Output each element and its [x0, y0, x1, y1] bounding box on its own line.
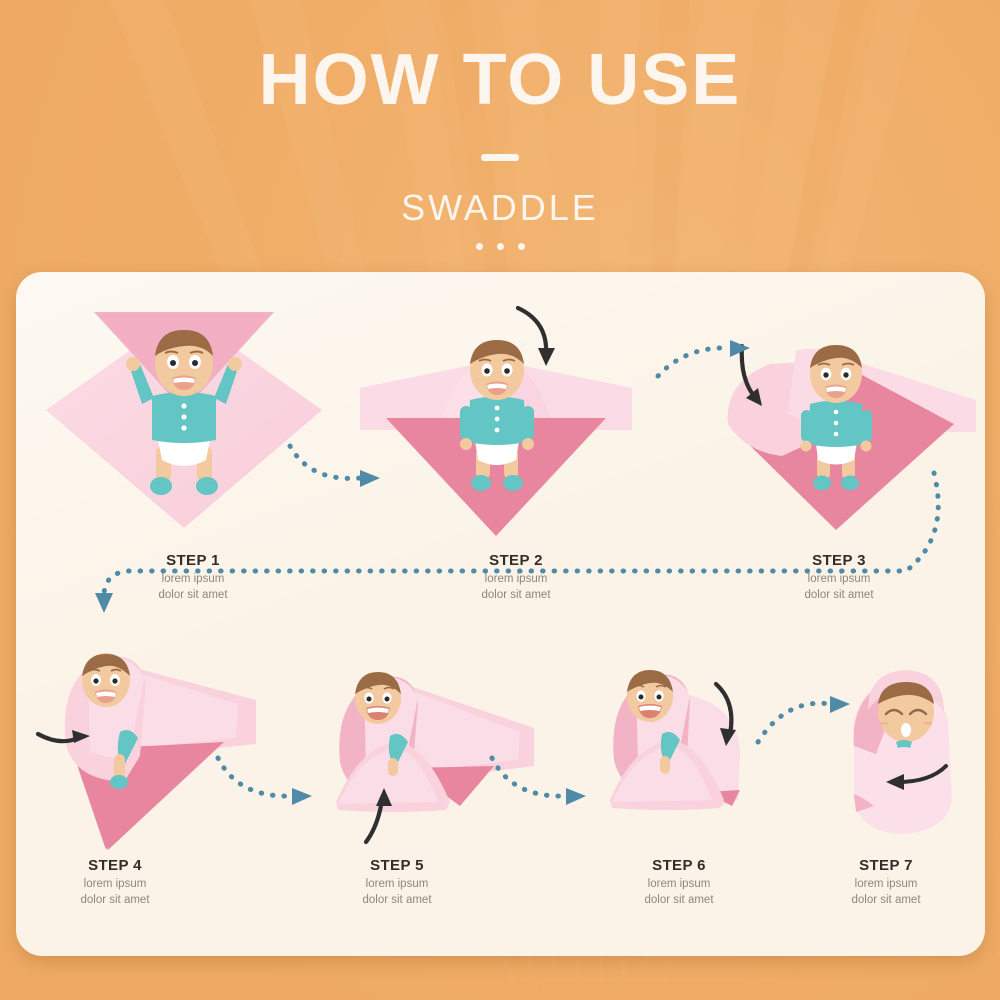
- connector-step2-step3: [652, 340, 762, 386]
- step-5-description: lorem ipsum dolor sit amet: [312, 877, 482, 908]
- connector-step5-step6: [486, 752, 606, 812]
- decorative-dots: [0, 243, 1000, 250]
- baby-figure: [878, 682, 934, 742]
- connector-step4-step5: [212, 752, 332, 812]
- title-divider: [481, 154, 519, 161]
- step-4-title: STEP 4: [30, 857, 200, 874]
- connector-step6-step7: [752, 692, 872, 752]
- step-4-label: STEP 4 lorem ipsum dolor sit amet: [30, 857, 200, 908]
- step-6-description: lorem ipsum dolor sit amet: [594, 877, 764, 908]
- arrowhead-icon: [292, 788, 312, 805]
- header: HOW TO USE SWADDLE: [0, 0, 1000, 262]
- step-4-illustration: [28, 630, 298, 860]
- dot-icon: [518, 243, 525, 250]
- step-6-label: STEP 6 lorem ipsum dolor sit amet: [594, 857, 764, 908]
- dot-icon: [476, 243, 483, 250]
- arrowhead-icon: [95, 593, 113, 613]
- steps-card: STEP 1 lorem ipsum dolor sit amet STEP 2…: [16, 272, 985, 956]
- step-7-description: lorem ipsum dolor sit amet: [801, 877, 971, 908]
- infographic-root: HOW TO USE SWADDLE: [0, 0, 1000, 1000]
- dot-icon: [497, 243, 504, 250]
- step-6-title: STEP 6: [594, 857, 764, 874]
- page-title: HOW TO USE: [0, 0, 1000, 116]
- step-5-label: STEP 5 lorem ipsum dolor sit amet: [312, 857, 482, 908]
- baby-mouth: [901, 723, 911, 737]
- step-7-label: STEP 7 lorem ipsum dolor sit amet: [801, 857, 971, 908]
- step-4-description: lorem ipsum dolor sit amet: [30, 877, 200, 908]
- step-5-title: STEP 5: [312, 857, 482, 874]
- arrowhead-icon: [730, 340, 750, 357]
- arrowhead-icon: [830, 696, 850, 713]
- arrowhead-icon: [566, 788, 586, 805]
- page-subtitle: SWADDLE: [0, 187, 1000, 229]
- connector-step3-step4: [76, 467, 956, 617]
- step-7-title: STEP 7: [801, 857, 971, 874]
- fold-arrow-icon: [518, 308, 555, 366]
